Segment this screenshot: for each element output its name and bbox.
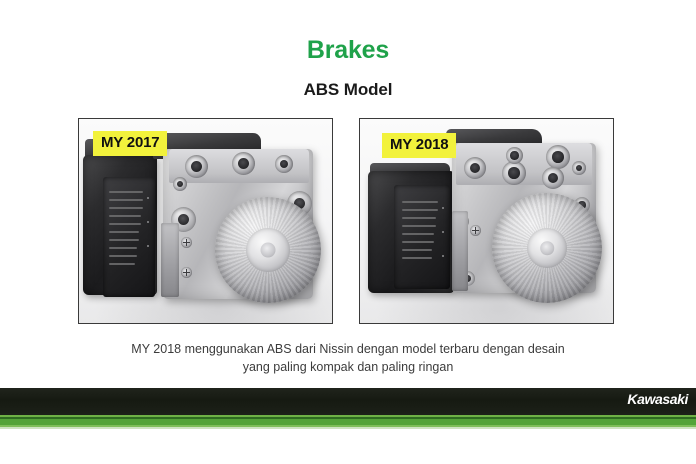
year-badge-my2018: MY 2018 xyxy=(382,133,456,158)
screw-icon xyxy=(470,225,481,236)
footer-stripe-pale xyxy=(0,427,696,429)
year-badge-my2017: MY 2017 xyxy=(93,131,167,156)
page-subtitle: ABS Model xyxy=(0,80,696,100)
port-icon xyxy=(502,161,526,185)
port-icon xyxy=(275,155,293,173)
port-icon xyxy=(546,145,570,169)
mounting-bracket-icon xyxy=(452,211,468,291)
port-icon xyxy=(185,155,208,178)
caption-block: MY 2018 menggunakan ABS dari Nissin deng… xyxy=(70,340,626,376)
pump-motor-icon xyxy=(492,193,602,303)
screw-icon xyxy=(181,237,192,248)
port-icon xyxy=(572,161,586,175)
kawasaki-logo: Kawasaki xyxy=(627,391,688,407)
slide-canvas: Brakes ABS Model xyxy=(0,0,696,464)
port-icon xyxy=(232,152,255,175)
mounting-bracket-icon xyxy=(161,223,179,297)
port-icon xyxy=(542,167,564,189)
screw-icon xyxy=(181,267,192,278)
pump-motor-icon xyxy=(215,197,321,303)
page-title: Brakes xyxy=(0,36,696,65)
caption-line-2: yang paling kompak dan paling ringan xyxy=(70,358,626,376)
port-icon xyxy=(506,147,523,164)
abs-photo-my2017: MY 2017 xyxy=(78,118,333,324)
ecu-connector-icon xyxy=(103,177,155,297)
pump-motor-hub-icon xyxy=(527,228,567,268)
ecu-connector-icon xyxy=(394,185,450,289)
port-icon xyxy=(464,157,486,179)
footer-band xyxy=(0,388,696,415)
pump-motor-hub-icon xyxy=(246,228,290,272)
caption-line-1: MY 2018 menggunakan ABS dari Nissin deng… xyxy=(70,340,626,358)
abs-photo-my2018: MY 2018 xyxy=(359,118,614,324)
port-icon xyxy=(173,177,187,191)
